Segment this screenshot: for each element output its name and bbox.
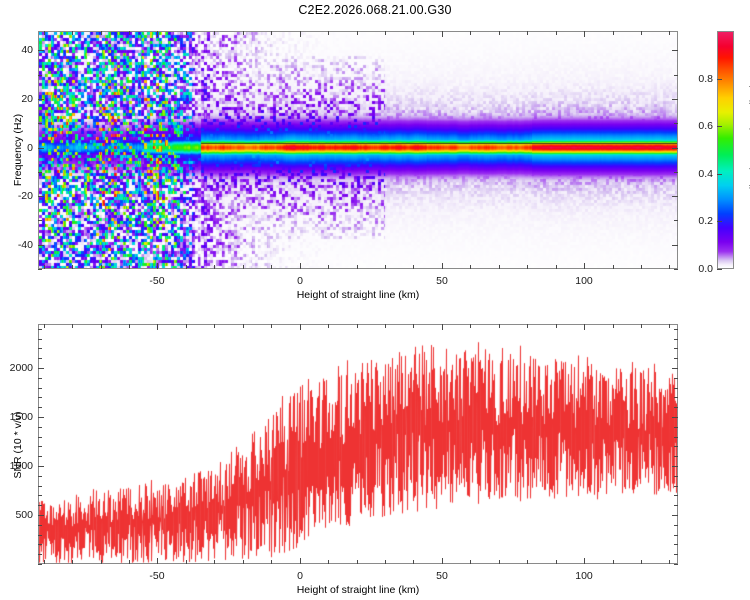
y-tick [674, 437, 678, 438]
y-tick [38, 486, 42, 487]
x-tick [641, 324, 642, 328]
colorbar-tick-label: 0.4 [687, 168, 713, 180]
x-tick [584, 558, 585, 564]
x-tick [499, 265, 500, 269]
x-tick [243, 560, 244, 564]
y-tick [38, 388, 42, 389]
x-tick [300, 31, 301, 37]
y-tick [38, 378, 42, 379]
x-tick [584, 263, 585, 269]
x-tick [527, 31, 528, 35]
y-tick [672, 368, 678, 369]
x-tick [186, 31, 187, 35]
x-tick [243, 265, 244, 269]
x-tick [499, 31, 500, 35]
x-tick [499, 560, 500, 564]
x-tick [300, 324, 301, 330]
x-tick [527, 560, 528, 564]
x-tick-label: 50 [436, 275, 448, 287]
y-tick [674, 544, 678, 545]
y-tick [38, 525, 42, 526]
y-tick [672, 148, 678, 149]
x-tick [214, 560, 215, 564]
x-tick [44, 31, 45, 35]
x-tick-label: 50 [436, 570, 448, 582]
y-tick [38, 358, 42, 359]
snr-plot-area [38, 324, 678, 564]
y-tick [674, 123, 678, 124]
y-tick [674, 476, 678, 477]
x-tick-label: -50 [149, 275, 164, 287]
y-tick [674, 456, 678, 457]
x-tick-label: 100 [575, 570, 593, 582]
y-tick [38, 544, 42, 545]
y-tick [674, 505, 678, 506]
y-tick-label: 2000 [4, 362, 33, 374]
x-tick [470, 324, 471, 328]
y-tick [38, 269, 42, 270]
y-tick [38, 407, 42, 408]
colorbar-tick-label: 0.2 [687, 215, 713, 227]
y-tick [674, 358, 678, 359]
x-tick [669, 324, 670, 328]
y-tick [38, 437, 42, 438]
y-tick-label: 40 [4, 44, 33, 56]
x-tick [413, 265, 414, 269]
snr-trace [39, 325, 677, 563]
y-tick [38, 339, 42, 340]
y-tick [672, 50, 678, 51]
y-tick [38, 515, 44, 516]
y-tick [38, 564, 42, 565]
x-tick [613, 265, 614, 269]
x-tick [527, 265, 528, 269]
y-tick [674, 269, 678, 270]
y-tick [38, 466, 44, 467]
y-tick [38, 446, 42, 447]
y-tick [674, 378, 678, 379]
colorbar-gradient [717, 31, 734, 269]
x-tick [72, 265, 73, 269]
snr-xaxis-label: Height of straight line (km) [297, 584, 420, 596]
x-tick [129, 560, 130, 564]
y-tick [674, 427, 678, 428]
x-tick-label: 0 [297, 275, 303, 287]
y-tick [674, 446, 678, 447]
y-tick [38, 99, 44, 100]
x-tick [470, 560, 471, 564]
y-tick [674, 554, 678, 555]
x-tick [385, 324, 386, 328]
y-tick [672, 515, 678, 516]
x-tick [44, 560, 45, 564]
y-tick-label: 20 [4, 93, 33, 105]
y-tick [38, 348, 42, 349]
snr-yaxis-label: SNR (10 * v/v) [12, 411, 24, 478]
x-tick [157, 263, 158, 269]
x-tick [271, 560, 272, 564]
x-tick [641, 265, 642, 269]
x-tick [72, 324, 73, 328]
y-tick [38, 75, 42, 76]
x-tick [101, 31, 102, 35]
spectrogram-yaxis-label: Frequency (Hz) [12, 114, 24, 186]
x-tick [101, 560, 102, 564]
y-tick [674, 220, 678, 221]
colorbar-tick-label: 0.0 [687, 263, 713, 275]
x-tick [385, 31, 386, 35]
y-tick [38, 50, 44, 51]
x-tick-label: 100 [575, 275, 593, 287]
x-tick [669, 265, 670, 269]
y-tick [672, 196, 678, 197]
x-tick [641, 560, 642, 564]
x-tick [300, 263, 301, 269]
colorbar-tick-label: 0.8 [687, 73, 713, 85]
x-tick [101, 324, 102, 328]
x-tick [669, 560, 670, 564]
colorbar-tick [717, 126, 722, 127]
x-tick [44, 265, 45, 269]
x-tick [214, 324, 215, 328]
y-tick [672, 466, 678, 467]
y-tick [674, 348, 678, 349]
colorbar-tick-label: 0.6 [687, 120, 713, 132]
x-tick [243, 324, 244, 328]
figure-root: C2E2.2026.068.21.00.G30 -50050100-40-200… [0, 0, 750, 600]
spectrogram-plot-area [38, 31, 678, 269]
x-tick [328, 324, 329, 328]
x-tick [44, 324, 45, 328]
x-tick [157, 324, 158, 330]
colorbar-tick [717, 221, 722, 222]
y-tick [674, 75, 678, 76]
y-tick [38, 196, 44, 197]
y-tick-label: -20 [4, 190, 33, 202]
x-tick [214, 265, 215, 269]
x-tick [413, 31, 414, 35]
x-tick [442, 558, 443, 564]
x-tick [442, 31, 443, 37]
x-tick [271, 265, 272, 269]
x-tick [129, 265, 130, 269]
x-tick [357, 560, 358, 564]
y-tick [38, 476, 42, 477]
x-tick [271, 31, 272, 35]
colorbar-tick [717, 79, 722, 80]
x-tick-label: 0 [297, 570, 303, 582]
y-tick [38, 505, 42, 506]
y-tick [38, 368, 44, 369]
y-tick [38, 495, 42, 496]
x-tick [385, 560, 386, 564]
x-tick [470, 31, 471, 35]
x-tick [357, 265, 358, 269]
y-tick [674, 172, 678, 173]
y-tick [38, 123, 42, 124]
x-tick [357, 31, 358, 35]
y-tick [38, 397, 42, 398]
x-tick-label: -50 [149, 570, 164, 582]
x-tick [556, 560, 557, 564]
y-tick-label: -40 [4, 239, 33, 251]
spectrogram-image [39, 32, 677, 268]
x-tick [357, 324, 358, 328]
x-tick [556, 31, 557, 35]
x-tick [584, 324, 585, 330]
x-tick [499, 324, 500, 328]
y-tick [38, 427, 42, 428]
x-tick [669, 31, 670, 35]
x-tick [470, 265, 471, 269]
y-tick [38, 417, 44, 418]
y-tick [674, 535, 678, 536]
x-tick [385, 265, 386, 269]
x-tick [186, 560, 187, 564]
y-tick [674, 525, 678, 526]
x-tick [442, 324, 443, 330]
x-tick [641, 31, 642, 35]
x-tick [157, 558, 158, 564]
y-tick [38, 329, 42, 330]
x-tick [613, 324, 614, 328]
y-tick [674, 339, 678, 340]
x-tick [243, 31, 244, 35]
y-tick [38, 172, 42, 173]
y-tick [674, 495, 678, 496]
y-tick [38, 456, 42, 457]
x-tick [328, 560, 329, 564]
y-tick [674, 397, 678, 398]
spectrogram-xaxis-label: Height of straight line (km) [297, 289, 420, 301]
colorbar-tick [717, 174, 722, 175]
x-tick [613, 31, 614, 35]
y-tick [38, 245, 44, 246]
y-tick [674, 486, 678, 487]
x-tick [556, 324, 557, 328]
y-tick [674, 407, 678, 408]
y-tick [674, 388, 678, 389]
figure-title: C2E2.2026.068.21.00.G30 [0, 3, 750, 17]
x-tick [613, 560, 614, 564]
x-tick [72, 31, 73, 35]
y-tick [672, 99, 678, 100]
y-tick [674, 564, 678, 565]
x-tick [186, 324, 187, 328]
x-tick [72, 560, 73, 564]
x-tick [328, 265, 329, 269]
x-tick [214, 31, 215, 35]
colorbar-tick [717, 269, 722, 270]
x-tick [157, 31, 158, 37]
y-tick [38, 535, 42, 536]
x-tick [527, 324, 528, 328]
y-tick [672, 245, 678, 246]
x-tick [129, 324, 130, 328]
y-tick [38, 220, 42, 221]
x-tick [328, 31, 329, 35]
x-tick [271, 324, 272, 328]
y-tick-label: 500 [4, 509, 33, 521]
y-tick [38, 554, 42, 555]
x-tick [101, 265, 102, 269]
x-tick [556, 265, 557, 269]
y-tick [672, 417, 678, 418]
y-tick [674, 329, 678, 330]
x-tick [584, 31, 585, 37]
x-tick [300, 558, 301, 564]
x-tick [413, 324, 414, 328]
x-tick [442, 263, 443, 269]
x-tick [413, 560, 414, 564]
x-tick [129, 31, 130, 35]
x-tick [186, 265, 187, 269]
y-tick [38, 148, 44, 149]
